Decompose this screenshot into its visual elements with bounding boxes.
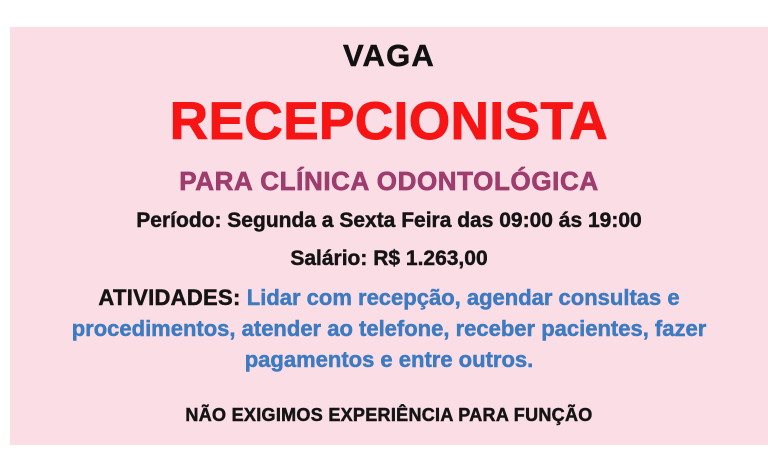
job-posting-poster: VAGA RECEPCIONISTA PARA CLÍNICA ODONTOLÓ… [10, 27, 768, 445]
activities-label: ATIVIDADES: [98, 285, 240, 310]
job-title: RECEPCIONISTA [10, 95, 768, 148]
salary-line: Salário: R$ 1.263,00 [10, 248, 768, 269]
activities-block: ATIVIDADES: Lidar com recepção, agendar … [34, 283, 744, 375]
vaga-heading: VAGA [10, 40, 768, 71]
clinic-subtitle: PARA CLÍNICA ODONTOLÓGICA [10, 168, 768, 194]
no-experience-note: NÃO EXIGIMOS EXPERIÊNCIA PARA FUNÇÃO [10, 406, 768, 424]
schedule-line: Período: Segunda a Sexta Feira das 09:00… [10, 210, 768, 231]
